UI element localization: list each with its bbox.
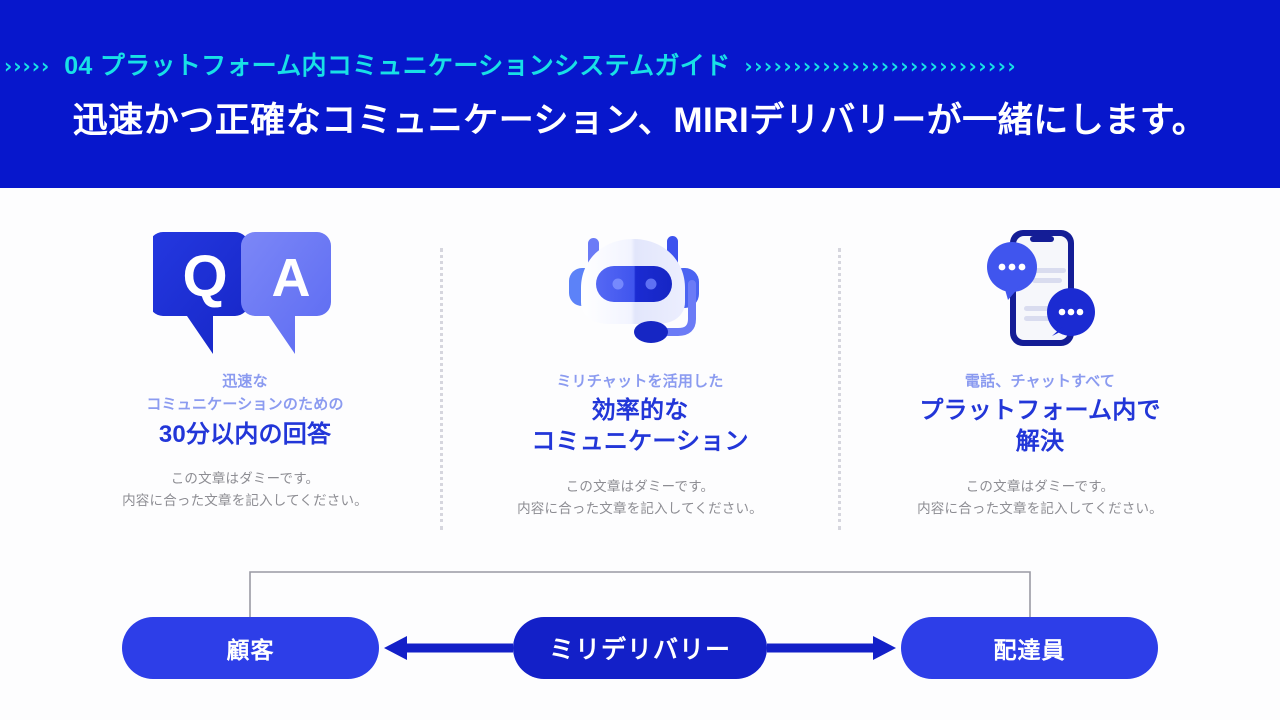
- column-2-description-line2: 内容に合った文章を記入してください。: [475, 498, 805, 520]
- feature-columns: Q A 迅速な コミュニケーションのための 30分以内の回答 この文章はダミーで…: [0, 188, 1280, 548]
- column-3-subtitle-line1: 電話、チャットすべて: [875, 370, 1205, 393]
- column-2-subtitle: ミリチャットを活用した: [475, 370, 805, 393]
- slide-root: ››››› 04 プラットフォーム内コミュニケーションシステムガイド ›››››…: [0, 0, 1280, 720]
- column-2-headline-line2: コミュニケーション: [475, 426, 805, 457]
- flow-node-miri-delivery[interactable]: ミリデリバリー: [513, 617, 767, 679]
- column-1-subtitle-line1: 迅速な: [80, 370, 410, 393]
- column-1-description-line2: 内容に合った文章を記入してください。: [80, 490, 410, 512]
- svg-text:Q: Q: [182, 244, 227, 309]
- column-3-headline-line2: 解決: [875, 426, 1205, 457]
- chevrons-right-icon: ››››››››››››››››››››››››››››: [744, 56, 1280, 76]
- column-1-headline-line1: 30分以内の回答: [80, 419, 410, 450]
- section-eyebrow-title: 04 プラットフォーム内コミュニケーションシステムガイド: [64, 54, 730, 79]
- column-3-description-line2: 内容に合った文章を記入してください。: [875, 498, 1205, 520]
- column-2-headline-line1: 効率的な: [475, 395, 805, 426]
- column-1-description-line1: この文章はダミーです。: [80, 468, 410, 490]
- column-2-headline: 効率的な コミュニケーション: [475, 395, 805, 457]
- column-3-subtitle: 電話、チャットすべて: [875, 370, 1205, 393]
- qa-speech-bubbles-icon: Q A: [80, 218, 410, 358]
- column-1-subtitle-line2: コミュニケーションのための: [80, 393, 410, 416]
- svg-text:A: A: [272, 248, 311, 308]
- column-2-subtitle-line1: ミリチャットを活用した: [475, 370, 805, 393]
- column-2-description-line1: この文章はダミーです。: [475, 476, 805, 498]
- feature-column-3: 電話、チャットすべて プラットフォーム内で 解決 この文章はダミーです。 内容に…: [875, 188, 1205, 520]
- column-divider-1: [440, 248, 443, 530]
- page-title: 迅速かつ正確なコミュニケーション、MIRIデリバリーが一緒にします。: [0, 99, 1280, 143]
- chevrons-left-icon: ›››››: [4, 56, 50, 76]
- column-1-description: この文章はダミーです。 内容に合った文章を記入してください。: [80, 468, 410, 513]
- column-divider-2: [838, 248, 841, 530]
- header-banner: ››››› 04 プラットフォーム内コミュニケーションシステムガイド ›››››…: [0, 0, 1280, 188]
- column-1-subtitle: 迅速な コミュニケーションのための: [80, 370, 410, 417]
- column-3-description: この文章はダミーです。 内容に合った文章を記入してください。: [875, 476, 1205, 521]
- column-3-headline: プラットフォーム内で 解決: [875, 395, 1205, 457]
- column-1-headline: 30分以内の回答: [80, 419, 410, 450]
- column-3-description-line1: この文章はダミーです。: [875, 476, 1205, 498]
- column-3-headline-line1: プラットフォーム内で: [875, 395, 1205, 426]
- eyebrow-row: ››››› 04 プラットフォーム内コミュニケーションシステムガイド ›››››…: [0, 48, 1280, 84]
- flow-node-customer[interactable]: 顧客: [122, 617, 379, 679]
- feature-column-1: Q A 迅速な コミュニケーションのための 30分以内の回答 この文章はダミーで…: [80, 188, 410, 512]
- feature-column-2: ミリチャットを活用した 効率的な コミュニケーション この文章はダミーです。 内…: [475, 188, 805, 520]
- flow-node-courier[interactable]: 配達員: [901, 617, 1158, 679]
- chatbot-headset-icon: [475, 218, 805, 358]
- phone-chat-bubbles-icon: [875, 218, 1205, 358]
- column-2-description: この文章はダミーです。 内容に合った文章を記入してください。: [475, 476, 805, 521]
